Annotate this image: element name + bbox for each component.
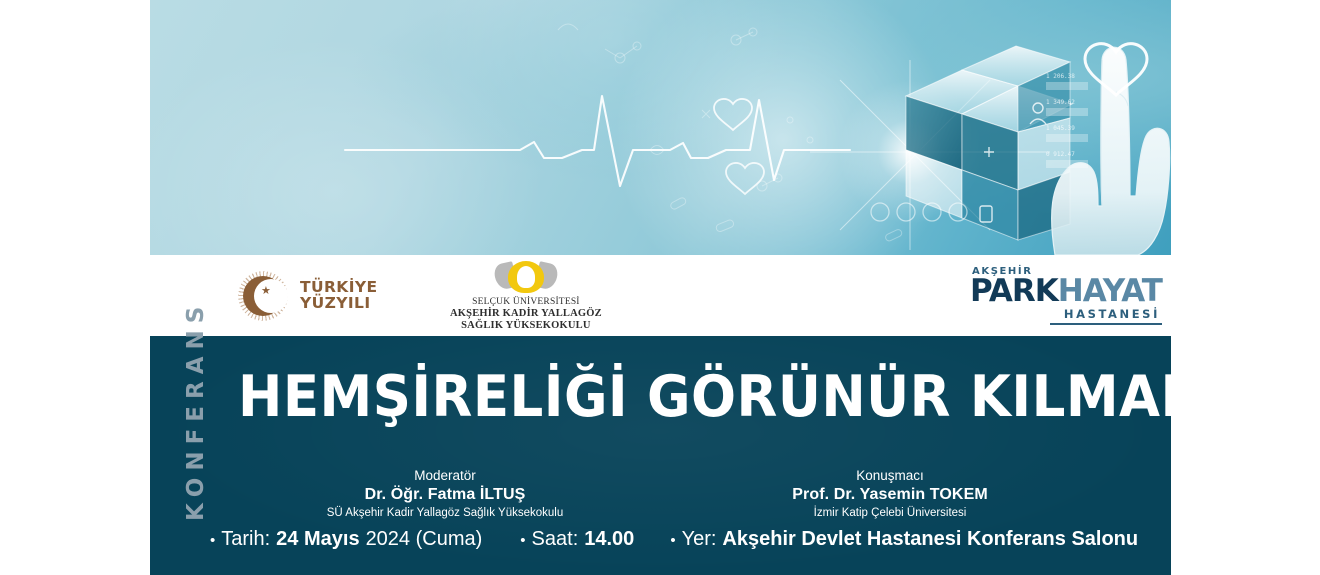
heart-outline-icon [714,99,752,130]
speaker-name: Prof. Dr. Yasemin TOKEM [680,485,1100,506]
participants-row: Moderatör Dr. Öğr. Fatma İLTUŞ SÜ Akşehi… [210,468,1140,520]
svg-text:1 045.39: 1 045.39 [1046,125,1075,132]
event-time: • Saat: 14.00 [520,528,634,551]
place-value: Akşehir Devlet Hastanesi Konferans Salon… [722,528,1138,551]
selcuk-line2: AKŞEHİR KADİR YALLAGÖZ [450,308,602,320]
logo-turkiye-yuzyili: TÜRKİYE YÜZYILI [235,255,378,336]
hero-graphics: 1 206.381 349.62 1 045.390 912.47 [150,0,1171,255]
poster-body: KONFERANS HEMŞİRELİĞİ GÖRÜNÜR KILMAK Mod… [150,336,1171,575]
crescent-star-icon [235,268,291,324]
svg-text:1 349.62: 1 349.62 [1046,99,1075,106]
parkhayat-hayat: HAYAT [1058,273,1162,309]
moderator-name: Dr. Öğr. Fatma İLTUŞ [210,485,680,506]
selcuk-line1: SELÇUK ÜNİVERSİTESİ [450,297,602,308]
selcuk-line3: SAĞLIK YÜKSEKOKULU [450,320,602,332]
hero-banner-image: 1 206.381 349.62 1 045.390 912.47 [150,0,1171,255]
page-title: HEMŞİRELİĞİ GÖRÜNÜR KILMAK [238,364,1056,430]
place-label: Yer: [682,528,717,551]
event-info-bar: • Tarih: 24 Mayıs 2024 (Cuma) • Saat: 14… [210,528,1170,551]
logo-parkhayat-hastanesi: AKŞEHİR PARKHAYAT HASTANESİ [970,255,1162,336]
turkiye-yuzyili-line2: YÜZYILI [300,296,378,312]
moderator-affiliation: SÜ Akşehir Kadir Yallagöz Sağlık Yükseko… [210,506,680,520]
selcuk-eagle-crest-icon [495,259,557,295]
moderator-block: Moderatör Dr. Öğr. Fatma İLTUŞ SÜ Akşehi… [210,468,680,520]
svg-text:0 912.47: 0 912.47 [1046,151,1075,158]
parkhayat-underline [1050,323,1162,325]
parkhayat-bottom: HASTANESİ [1064,307,1160,321]
conference-poster: 1 206.381 349.62 1 045.390 912.47 [150,0,1171,575]
ecg-line [345,96,850,186]
speaker-role: Konuşmacı [680,468,1100,485]
svg-text:1 206.38: 1 206.38 [1046,73,1075,80]
sponsor-logo-strip: TÜRKİYE YÜZYILI SELÇUK ÜNİVERSİTESİ AKŞE… [150,255,1171,336]
time-value: 14.00 [584,528,634,551]
bullet-icon: • [520,533,525,548]
event-place: • Yer: Akşehir Devlet Hastanesi Konferan… [670,528,1138,551]
bullet-icon: • [670,533,675,548]
parkhayat-park: PARK [970,273,1058,309]
moderator-role: Moderatör [210,468,680,485]
vertical-konferans-label: KONFERANS [183,321,209,521]
event-date: • Tarih: 24 Mayıs 2024 (Cuma) [210,528,482,551]
logo-white-panel [695,255,895,330]
date-label: Tarih: [221,528,270,551]
speaker-affiliation: İzmir Katip Çelebi Üniversitesi [680,506,1100,520]
logo-selcuk-universitesi: SELÇUK ÜNİVERSİTESİ AKŞEHİR KADİR YALLAG… [450,255,602,336]
time-label: Saat: [532,528,579,551]
speaker-block: Konuşmacı Prof. Dr. Yasemin TOKEM İzmir … [680,468,1100,520]
date-value-strong: 24 Mayıs [276,528,359,551]
bullet-icon: • [210,533,215,548]
date-value-rest: 2024 (Cuma) [366,528,483,551]
